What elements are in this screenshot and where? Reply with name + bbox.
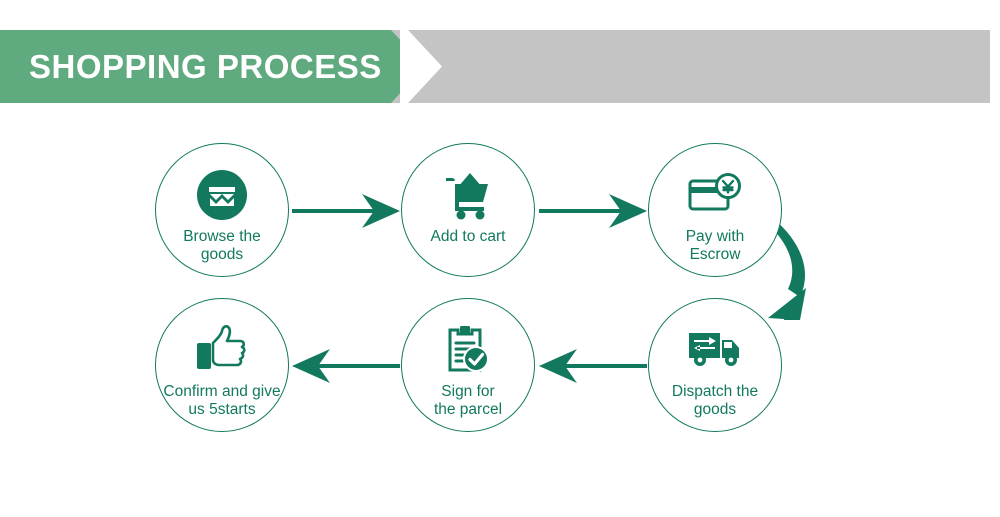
clipboard-check-icon [440, 323, 496, 377]
flow-node-sign-for-parcel[interactable]: Sign for the parcel [401, 298, 535, 432]
connector-dispatch-to-sign [539, 349, 647, 383]
storefront-icon [194, 168, 250, 222]
flow-node-label: Browse the goods [183, 228, 261, 264]
flow-node-confirm[interactable]: Confirm and give us 5starts [155, 298, 289, 432]
flow-node-pay-with-escrow[interactable]: Pay with Escrow [648, 143, 782, 277]
shopping-cart-icon [440, 168, 496, 222]
flow-node-add-to-cart[interactable]: Add to cart [401, 143, 535, 277]
flow-node-label: Add to cart [431, 228, 506, 246]
connector-browse-to-cart [292, 194, 400, 228]
thumbs-up-icon [194, 323, 250, 377]
flow-node-browse[interactable]: Browse the goods [155, 143, 289, 277]
process-flow: Browse the goods Add to cart [0, 0, 1000, 517]
delivery-truck-icon [687, 323, 743, 377]
flow-node-dispatch[interactable]: Dispatch the goods [648, 298, 782, 432]
flow-node-label: Sign for the parcel [434, 383, 502, 419]
credit-card-yen-icon [687, 168, 743, 222]
flow-node-label: Confirm and give us 5starts [163, 383, 280, 419]
flow-node-label: Dispatch the goods [672, 383, 758, 419]
shopping-process-infographic: SHOPPING PROCESS [0, 0, 1000, 517]
flow-node-label: Pay with Escrow [686, 228, 745, 264]
connector-sign-to-confirm [292, 349, 400, 383]
connector-cart-to-pay [539, 194, 647, 228]
